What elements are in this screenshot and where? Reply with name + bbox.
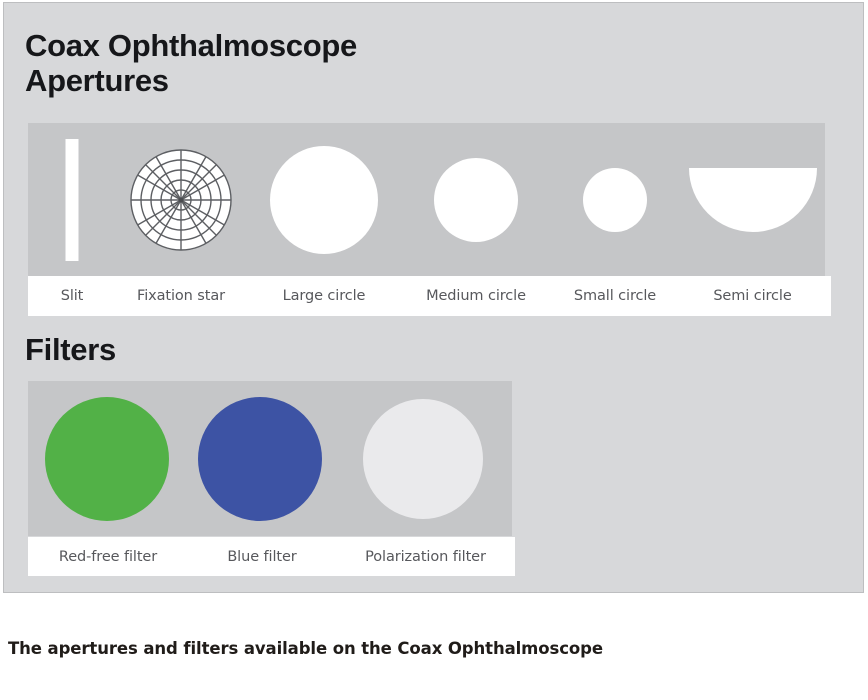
filters-label-strip: Red-free filter Blue filter Polarization… [28,537,515,576]
medium-circle-icon [434,158,518,242]
aperture-label-small-circle: Small circle [550,288,680,304]
semi-circle-icon [689,168,817,232]
apertures-display-panel [28,123,825,276]
large-circle-icon [270,146,378,254]
aperture-item-medium-circle[interactable] [402,123,550,276]
aperture-label-fixation-star: Fixation star [116,288,246,304]
apertures-shape-row [28,123,825,276]
aperture-item-small-circle[interactable] [550,123,680,276]
aperture-item-large-circle[interactable] [246,123,402,276]
green-filter-disc-icon [45,397,169,521]
aperture-label-large-circle: Large circle [246,288,402,304]
filter-label-polarization: Polarization filter [336,549,515,565]
filter-item-red-free[interactable] [28,381,186,536]
aperture-item-semi-circle[interactable] [680,123,825,276]
filter-item-polarization[interactable] [334,381,512,536]
filter-label-blue: Blue filter [188,549,336,565]
slit-icon [66,139,79,261]
filter-item-blue[interactable] [186,381,334,536]
aperture-label-medium-circle: Medium circle [402,288,550,304]
polarization-filter-disc-icon [363,399,483,519]
aperture-label-semi-circle: Semi circle [680,288,825,304]
blue-filter-disc-icon [198,397,322,521]
figure-caption: The apertures and filters available on t… [8,637,608,660]
aperture-label-slit: Slit [28,288,116,304]
figure-panel: Coax Ophthalmoscope Apertures [3,2,864,593]
figure-root: Coax Ophthalmoscope Apertures [0,0,868,700]
fixation-star-icon [129,148,233,252]
small-circle-icon [583,168,647,232]
apertures-label-strip: Slit Fixation star Large circle Medium c… [28,276,831,316]
apertures-heading: Coax Ophthalmoscope Apertures [25,28,545,99]
filters-heading: Filters [25,332,116,367]
aperture-item-fixation-star[interactable] [116,123,246,276]
filters-display-panel [28,381,512,536]
filter-label-red-free: Red-free filter [28,549,188,565]
aperture-item-slit[interactable] [28,123,116,276]
